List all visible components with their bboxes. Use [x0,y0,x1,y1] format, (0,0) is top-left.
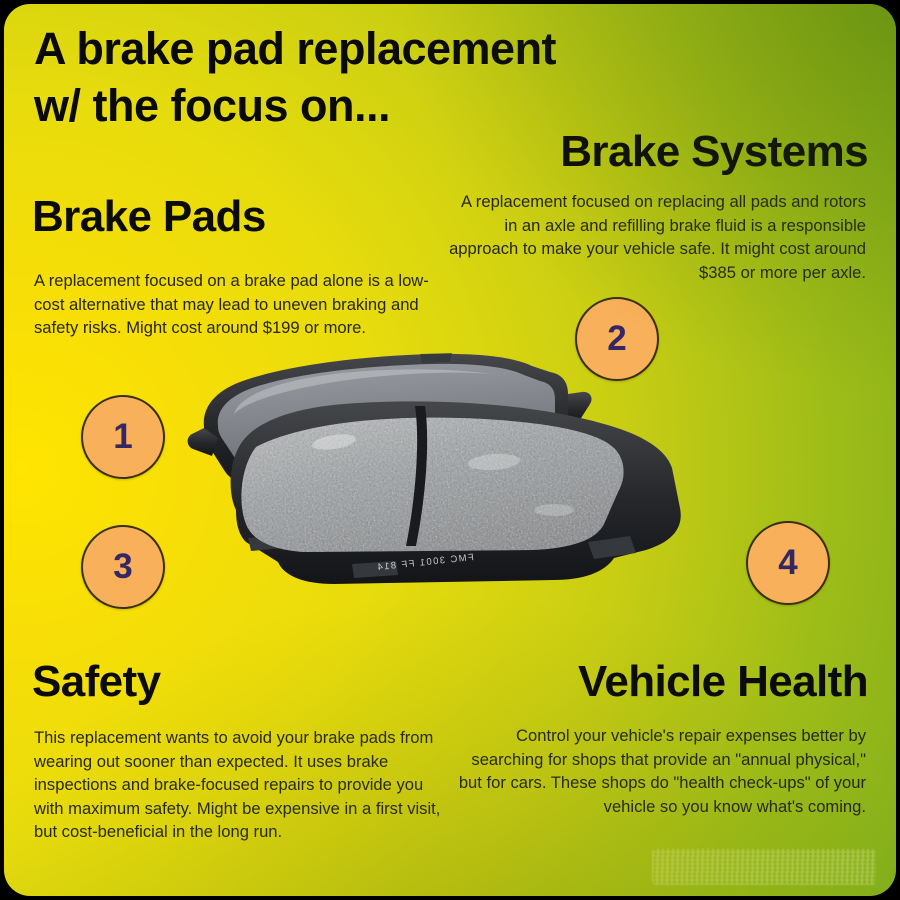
brake-pad-friction: FMC 3001 FF 814 [231,401,681,584]
step-badge-2[interactable]: 2 [575,297,659,381]
page-title: A brake pad replacement w/ the focus on.… [34,20,694,134]
section-body-brake-pads: A replacement focused on a brake pad alo… [34,269,459,340]
brake-pads-photo: FMC 3001 FF 814 [184,342,744,627]
section-title-brake-systems: Brake Systems [560,129,868,174]
infographic-poster: A brake pad replacement w/ the focus on.… [0,0,900,900]
step-badge-4[interactable]: 4 [746,521,830,605]
section-body-vehicle-health: Control your vehicle's repair expenses b… [446,724,866,818]
step-badge-3[interactable]: 3 [81,525,165,609]
section-title-safety: Safety [32,659,160,704]
step-badge-1[interactable]: 1 [81,395,165,479]
section-title-brake-pads: Brake Pads [32,194,266,239]
poster-card: A brake pad replacement w/ the focus on.… [4,4,896,896]
watermark [652,849,876,885]
section-body-safety: This replacement wants to avoid your bra… [34,726,454,844]
section-body-brake-systems: A replacement focused on replacing all p… [446,190,866,284]
section-title-vehicle-health: Vehicle Health [578,659,868,704]
